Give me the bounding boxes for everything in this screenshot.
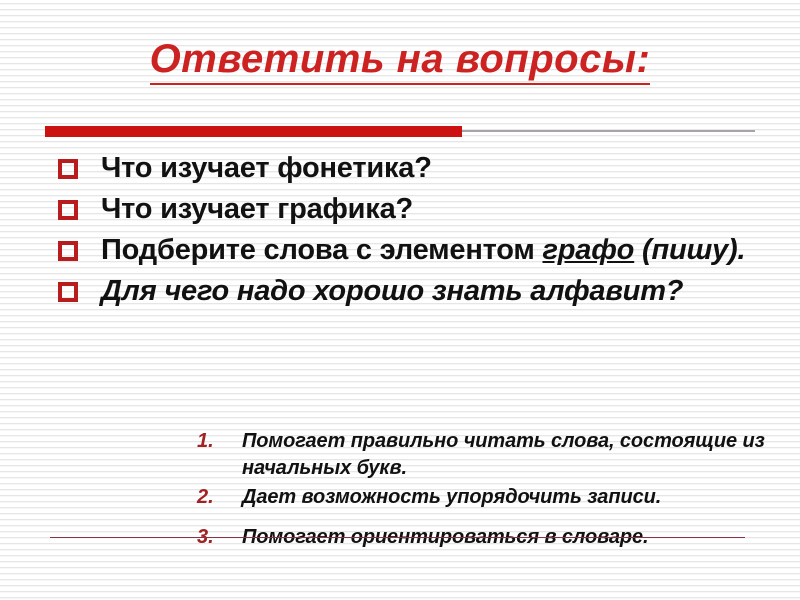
answer-text-1: Помогает правильно читать слова, состоящ…: [242, 428, 767, 482]
question-text-2: Что изучает графика?: [101, 191, 768, 228]
slide-canvas: Ответить на вопросы: Что изучает фонетик…: [0, 0, 800, 600]
answer-number-1: 1.: [197, 428, 242, 455]
list-item: 1. Помогает правильно читать слова, сост…: [197, 428, 767, 482]
question-text-3-head: Подберите слова с элементом: [101, 234, 543, 266]
square-bullet-icon: [58, 159, 78, 179]
header-divider: [45, 126, 755, 137]
square-bullet-icon: [58, 200, 78, 220]
question-text-3: Подберите слова с элементом графо (пишу)…: [101, 232, 768, 269]
question-list: Что изучает фонетика? Что изучает график…: [58, 150, 768, 314]
question-text-1: Что изучает фонетика?: [101, 150, 768, 187]
list-item: Подберите слова с элементом графо (пишу)…: [58, 232, 768, 269]
square-bullet-icon: [58, 282, 78, 302]
list-item: 2. Дает возможность упорядочить записи.: [197, 484, 767, 511]
page-title-text: Ответить на вопросы:: [150, 38, 651, 85]
page-title: Ответить на вопросы:: [0, 38, 800, 85]
answer-separator-line: [50, 537, 745, 538]
question-text-3-emphasis: графо: [543, 234, 635, 266]
square-bullet-icon: [58, 241, 78, 261]
answer-list: 1. Помогает правильно читать слова, сост…: [197, 428, 767, 553]
list-item: Что изучает графика?: [58, 191, 768, 228]
answer-text-2: Дает возможность упорядочить записи.: [242, 484, 767, 511]
list-item: Что изучает фонетика?: [58, 150, 768, 187]
divider-red-bar: [45, 126, 462, 137]
answer-number-2: 2.: [197, 484, 242, 511]
list-item: Для чего надо хорошо знать алфавит?: [58, 273, 768, 310]
question-text-4: Для чего надо хорошо знать алфавит?: [101, 273, 768, 310]
divider-gray-line: [462, 130, 755, 132]
question-text-3-tail: (пишу).: [634, 234, 745, 266]
